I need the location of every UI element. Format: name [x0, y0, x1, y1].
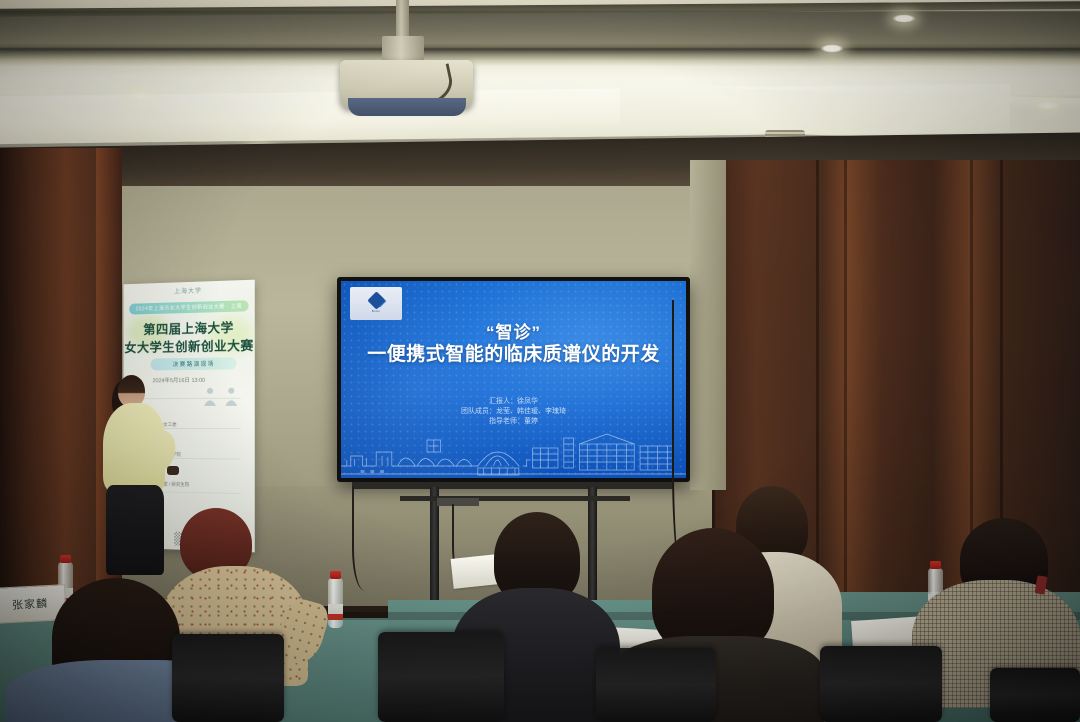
tv-stand-leg-right: [588, 487, 597, 605]
chair-back: [990, 668, 1080, 722]
diamond-logo-icon: [367, 291, 385, 309]
slide-credit-team: 团队成员：龙莹、韩佳瑷、李瑰琦: [341, 407, 686, 417]
chair-back: [172, 634, 284, 722]
chair-back: [820, 646, 942, 722]
slide-logo: BoAn: [350, 287, 402, 320]
tv-stand-cross-bar: [400, 496, 630, 501]
display-screen: BoAn “智诊” 一便携式智能的临床质谱仪的开发 汇报人：徐凤华 团队成员：龙…: [341, 281, 686, 478]
banner-heading-line2: 女大学生创新创业大赛: [123, 335, 254, 356]
presentation-display: BoAn “智诊” 一便携式智能的临床质谱仪的开发 汇报人：徐凤华 团队成员：龙…: [337, 277, 690, 482]
bottle-cap: [330, 571, 341, 579]
projector-lens-housing: [348, 98, 466, 116]
slide-logo-text: BoAn: [372, 309, 381, 313]
tv-stand-top-bar: [352, 482, 674, 489]
presenter-remote: [167, 466, 179, 475]
banner-ribbon: 2024年上海市女大学生创新创业大赛 · 上海: [129, 300, 248, 314]
slide-credit-presenter: 汇报人：徐凤华: [341, 397, 686, 407]
bottle-cap: [930, 561, 941, 569]
downlight-icon: [820, 44, 844, 53]
banner-date-text: 2024年5月16日 13:00: [153, 376, 206, 384]
chair-back: [596, 648, 716, 722]
slide-cityscape-illustration: [341, 426, 686, 478]
chair-back: [378, 632, 504, 722]
downlight-icon: [1036, 101, 1060, 110]
slide-title-sub: 一便携式智能的临床质谱仪的开发: [341, 339, 686, 366]
ceiling-beam-upper: [0, 1, 1080, 17]
bottle-label: [328, 604, 343, 620]
water-bottle: [328, 578, 343, 628]
downlight-icon: [892, 14, 916, 23]
presenter-skirt: [106, 485, 164, 575]
stand-cable: [352, 486, 384, 591]
bottle-cap: [60, 555, 71, 563]
downlight-icon: [128, 92, 152, 101]
banner-org-logo-text: 上海大学: [123, 284, 254, 297]
banner-subtitle-pill: 决 赛 路 演 现 场: [151, 357, 237, 370]
conference-room-photo: BoAn “智诊” 一便携式智能的临床质谱仪的开发 汇报人：徐凤华 团队成员：龙…: [0, 0, 1080, 722]
slide-credits: 汇报人：徐凤华 团队成员：龙莹、韩佳瑷、李瑰琦 指导老师：董婷: [341, 397, 686, 427]
